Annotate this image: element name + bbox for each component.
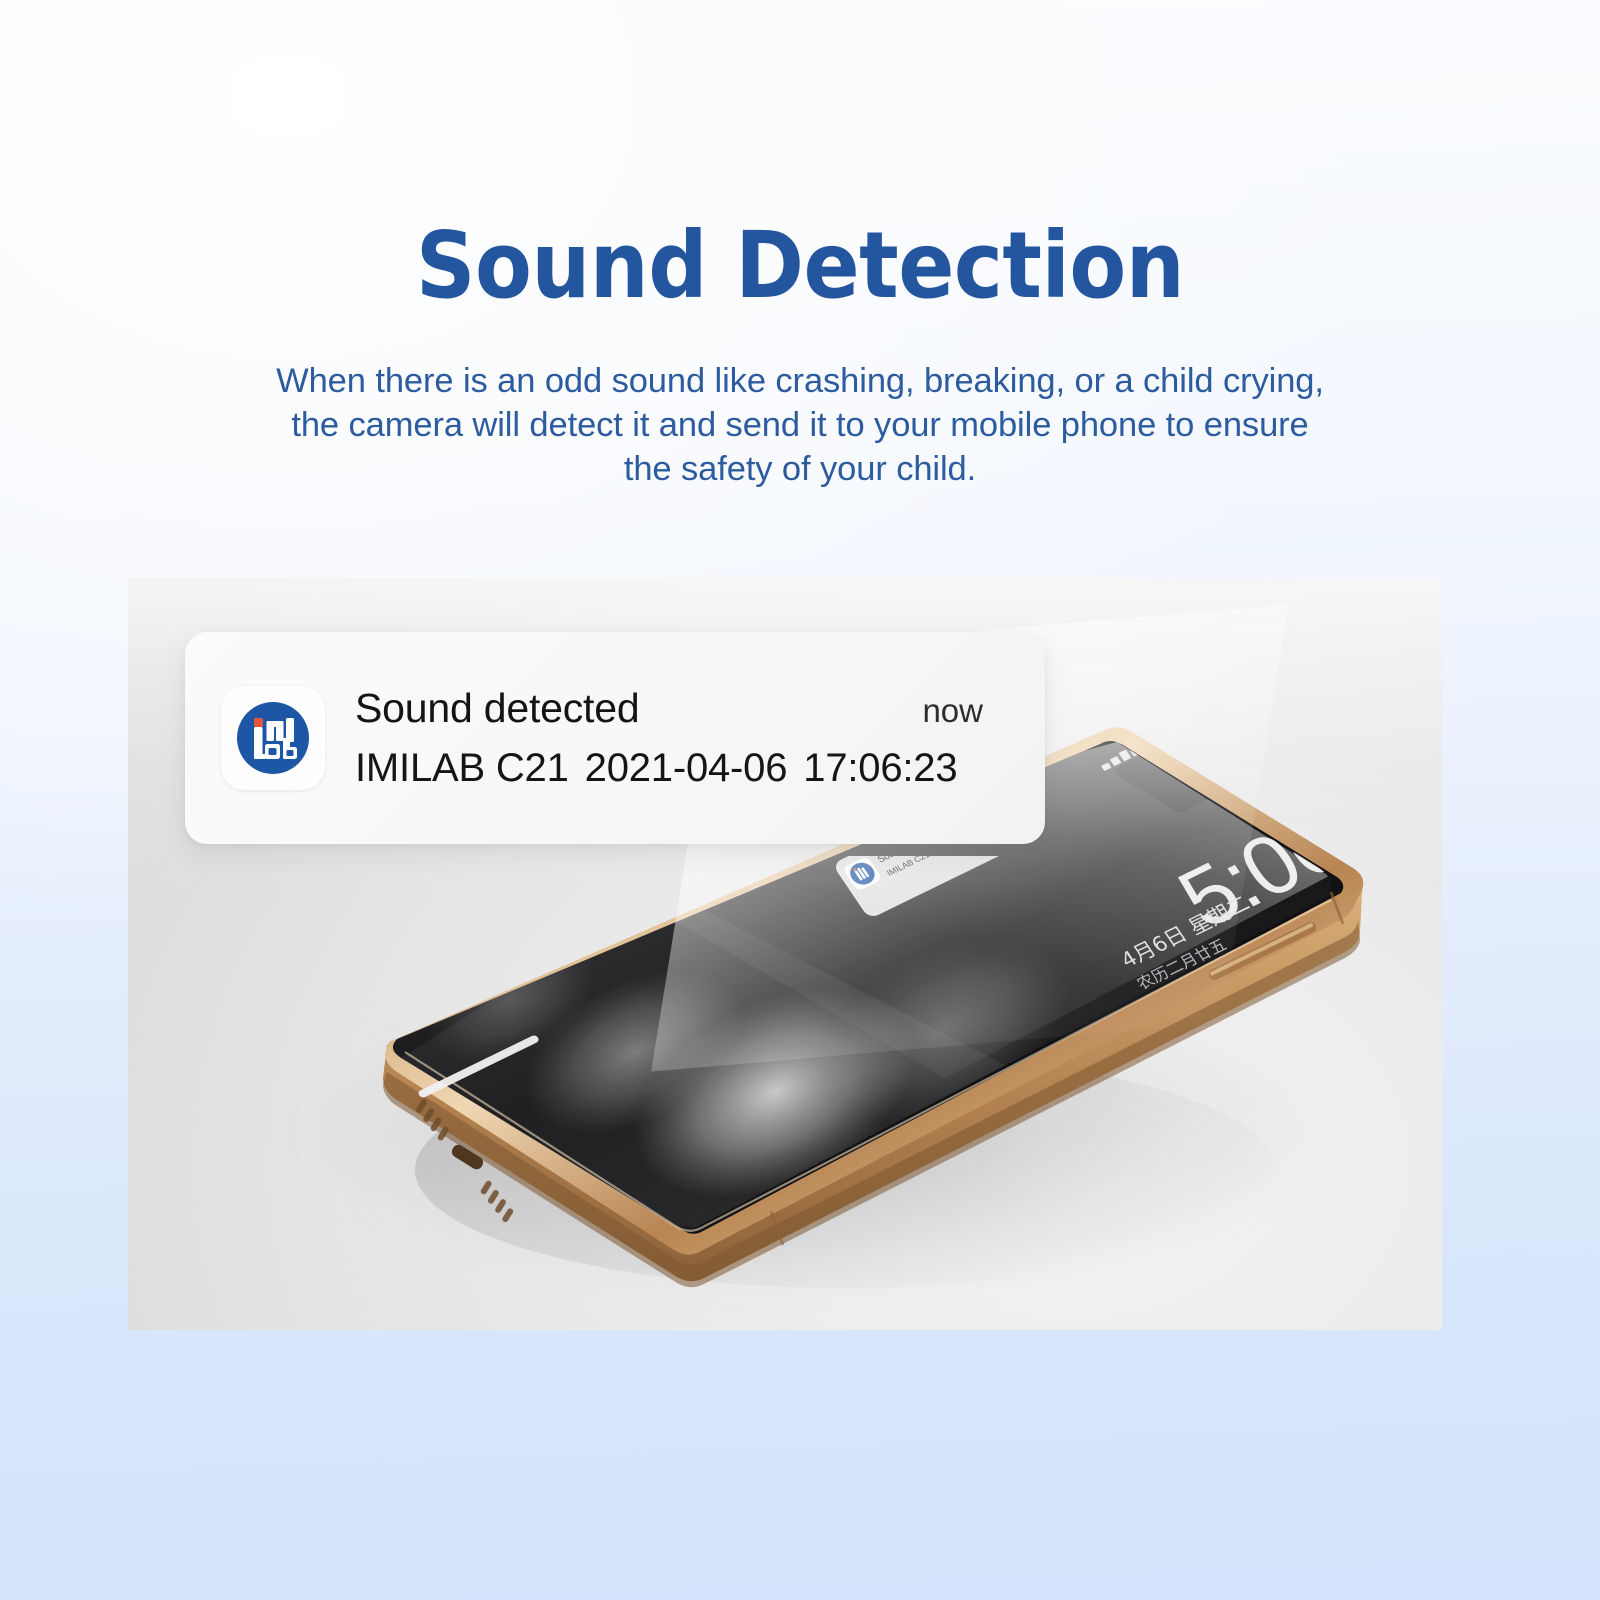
- notification-date: 2021-04-06: [585, 746, 788, 790]
- notification-title: Sound detected: [355, 685, 639, 732]
- notification-device: IMILAB C21: [355, 746, 569, 790]
- subtitle-line-1: When there is an odd sound like crashing…: [0, 359, 1600, 403]
- notification-content: Sound detected now IMILAB C212021-04-061…: [355, 685, 1011, 791]
- header-block: Sound Detection When there is an odd sou…: [0, 218, 1600, 491]
- page-title: Sound Detection: [0, 218, 1600, 315]
- subtitle-line-2: the camera will detect it and send it to…: [0, 403, 1600, 447]
- notification-time: now: [922, 692, 1011, 730]
- page-root: Sound Detection When there is an odd sou…: [0, 0, 1600, 1600]
- imilab-app-icon: [221, 686, 325, 790]
- notification-header-row: Sound detected now: [355, 685, 1011, 732]
- device-floor-shadow: [207, 924, 1416, 1330]
- notification-detail: IMILAB C212021-04-0617:06:23: [355, 746, 1011, 791]
- notification-card[interactable]: Sound detected now IMILAB C212021-04-061…: [185, 632, 1045, 844]
- page-subtitle: When there is an odd sound like crashing…: [0, 359, 1600, 491]
- notification-timestamp: 17:06:23: [803, 746, 957, 790]
- subtitle-line-3: the safety of your child.: [0, 447, 1600, 491]
